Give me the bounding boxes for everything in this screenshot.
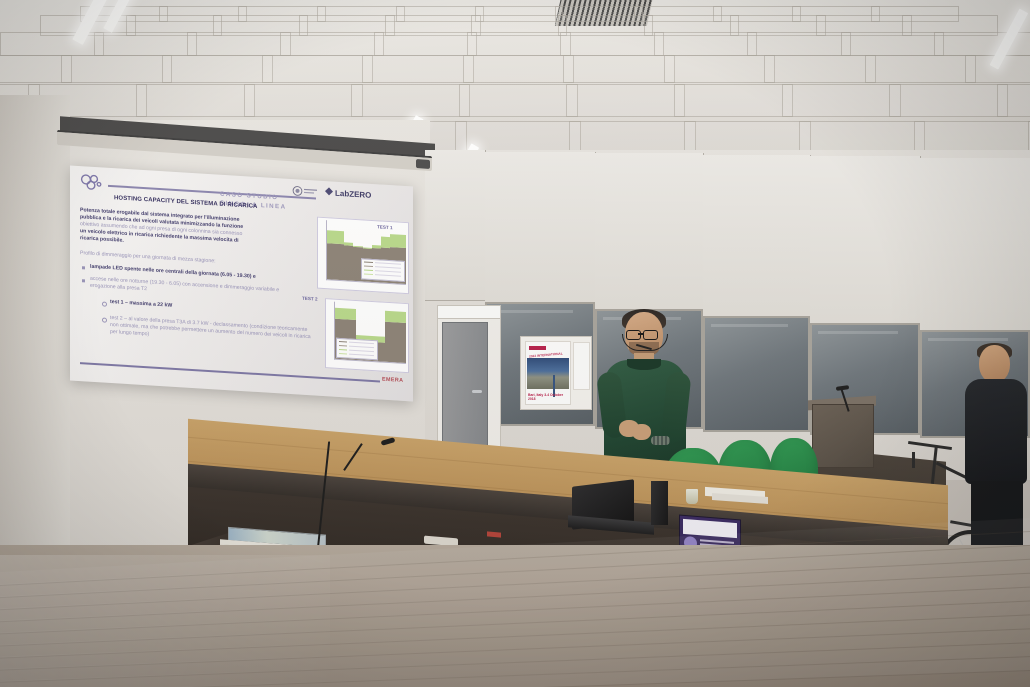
ceiling-tile [566,84,685,117]
floor-highlight [0,555,330,687]
ceiling-tile [94,32,197,56]
bullet-marker-1 [82,266,85,269]
presenter-sleeve-cuff [651,436,670,445]
window-reflection [493,310,573,313]
poster-cityscape [527,358,569,389]
bicycle-brake-lever [912,452,915,468]
ceiling-tile [136,84,255,117]
ceiling-tile [841,32,944,56]
wall-panel [920,158,1030,339]
poster-band [529,346,546,350]
attendee-torso [965,379,1027,484]
ceiling-tile [997,84,1030,117]
wall-panel [595,153,704,316]
av-control-unit [651,481,668,525]
presenter-collar [627,359,661,370]
slide-sub-bullet-1: test 1 – massima a 22 kW [110,299,310,318]
ceiling-tile [187,32,290,56]
politecnico-di-bari-logo [292,183,318,196]
water-glass [686,489,698,504]
window-reflection [928,338,1008,341]
sub-bullet-marker-2 [102,317,107,322]
room-door[interactable] [442,322,488,456]
ceiling-tile [747,32,850,56]
ceiling-tile [463,55,574,84]
slide-sub-bullet-2: test 2 – al valore della presa T3A di 3.… [110,315,316,349]
window-reflection [818,331,898,334]
sub-bullet-marker-1 [102,301,107,306]
lectern [812,404,874,468]
presenter-right-hand [632,424,651,440]
ceiling-tile [764,55,875,84]
ceiling-tile [674,84,793,117]
ceiling-tile [782,84,901,117]
ceiling-tile [280,32,383,56]
presentation-room-photo: CASO STUDIO SINGOLA LINEA HOSTING CAPACI… [0,0,1030,687]
ceiling-tile [244,84,363,117]
attendee-head [979,345,1010,383]
ceiling-tile [61,55,172,84]
ceiling-tile [467,32,570,56]
ceiling-tile [362,55,473,84]
chart-test1 [317,217,409,295]
chart-test2 [325,298,409,373]
bicycle-handlebar [908,441,952,450]
ceiling-tile [654,32,757,56]
projection-screen: CASO STUDIO SINGOLA LINEA HOSTING CAPACI… [70,166,413,402]
ceiling-tile [563,55,674,84]
ceiling-tile [889,84,1008,117]
ceiling-tile [865,55,976,84]
ceiling-tile [0,32,103,56]
poster-side-note [573,342,590,390]
ceiling-tile [560,32,663,56]
slide-footer-brand: EMERA [382,377,403,384]
ceiling-tile [351,84,470,117]
wall-panel [425,150,486,301]
poster-caption: Bari, Italy 3-4 October 2018 [528,393,570,401]
window-reflection [711,324,788,327]
svg-text:LabZERO: LabZERO [335,189,371,200]
ceiling-tile [162,55,273,84]
wall-panel [810,156,921,331]
chart-test1-label: TEST 1 [377,224,393,230]
chart-test2-label: TEST 2 [302,296,318,302]
ceiling-tile [664,55,775,84]
bullet-marker-2 [82,279,85,282]
labzero-logo: LabZERO [324,185,378,200]
ceiling-tile [374,32,477,56]
slide-brand-logo [79,173,105,192]
ceiling-tile [262,55,373,84]
interior-window [703,316,810,432]
door-handle-icon[interactable] [472,390,482,393]
event-poster: 2022 INTERNATIONAL Bari, Italy 3-4 Octob… [525,341,571,405]
ceiling-tile [459,84,578,117]
wall-panel [703,155,811,324]
wall-panel [485,152,596,309]
